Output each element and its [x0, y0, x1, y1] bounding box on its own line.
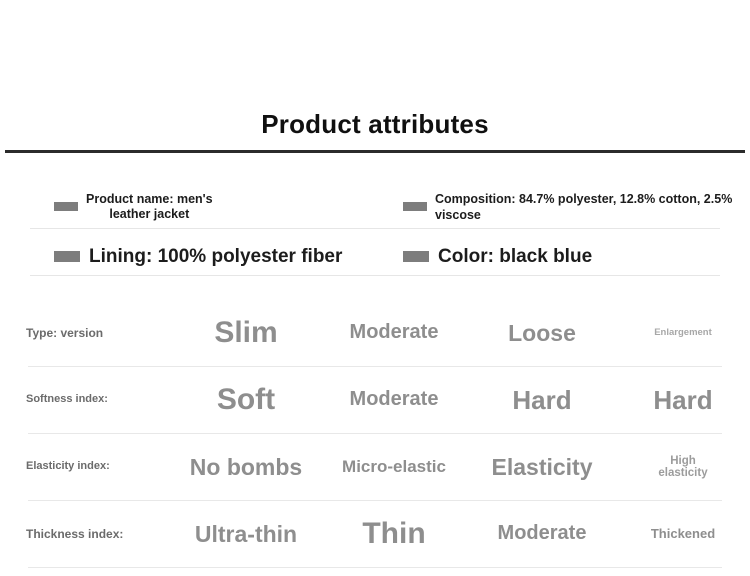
info-separator [30, 228, 720, 229]
table-row: Softness index: Soft Moderate Hard Hard [0, 367, 750, 434]
attribute-value: Elasticity [468, 455, 616, 480]
gray-bar-marker-icon [54, 202, 78, 211]
table-row: Thickness index: Ultra-thin Thin Moderat… [0, 501, 750, 568]
info-item-lining: Lining: 100% polyester fiber [54, 238, 342, 275]
gray-bar-marker-icon [54, 251, 80, 262]
page-title: Product attributes [0, 108, 750, 140]
info-item-text: Color: black blue [438, 245, 592, 269]
attribute-label: Thickness index: [0, 528, 172, 541]
attribute-value: No bombs [172, 455, 320, 480]
table-row: Type: version Slim Moderate Loose Enlarg… [0, 300, 750, 367]
gray-bar-marker-icon [403, 251, 429, 262]
info-item-text: Lining: 100% polyester fiber [89, 245, 342, 269]
info-row-primary: Product name: men's leather jacket Compo… [0, 185, 750, 228]
table-row: Elasticity index: No bombs Micro-elastic… [0, 434, 750, 501]
attribute-value: Soft [172, 384, 320, 416]
title-divider [5, 150, 745, 153]
attribute-value: Moderate [468, 523, 616, 545]
info-item-text: Product name: men's leather jacket [86, 192, 213, 222]
info-row-secondary: Lining: 100% polyester fiber Color: blac… [0, 238, 750, 275]
info-item-product-name: Product name: men's leather jacket [54, 185, 213, 228]
attribute-label: Softness index: [0, 394, 172, 406]
attribute-value: Thin [320, 518, 468, 550]
attribute-label: Type: version [0, 327, 172, 340]
info-item-text: Composition: 84.7% polyester, 12.8% cott… [435, 191, 750, 223]
info-item-composition: Composition: 84.7% polyester, 12.8% cott… [403, 185, 750, 228]
attribute-value: Loose [468, 321, 616, 346]
gray-bar-marker-icon [403, 202, 427, 211]
info-separator [30, 275, 720, 276]
info-item-color: Color: black blue [403, 238, 592, 275]
attribute-value: High elasticity [616, 455, 750, 480]
attribute-value: Moderate [320, 322, 468, 344]
product-attributes-page: Product attributes Product name: men's l… [0, 0, 750, 576]
page-title-text: Product attributes [0, 108, 750, 140]
row-divider [28, 567, 722, 568]
attribute-value: Moderate [320, 389, 468, 411]
attribute-table: Type: version Slim Moderate Loose Enlarg… [0, 300, 750, 568]
attribute-value: Ultra-thin [172, 522, 320, 547]
attribute-value: Micro-elastic [320, 458, 468, 476]
attribute-value: Slim [172, 317, 320, 349]
attribute-value: Thickened [616, 527, 750, 541]
attribute-value: Enlargement [616, 328, 750, 338]
attribute-value: Hard [468, 386, 616, 414]
attribute-label: Elasticity index: [0, 461, 172, 473]
attribute-value: Hard [616, 386, 750, 414]
